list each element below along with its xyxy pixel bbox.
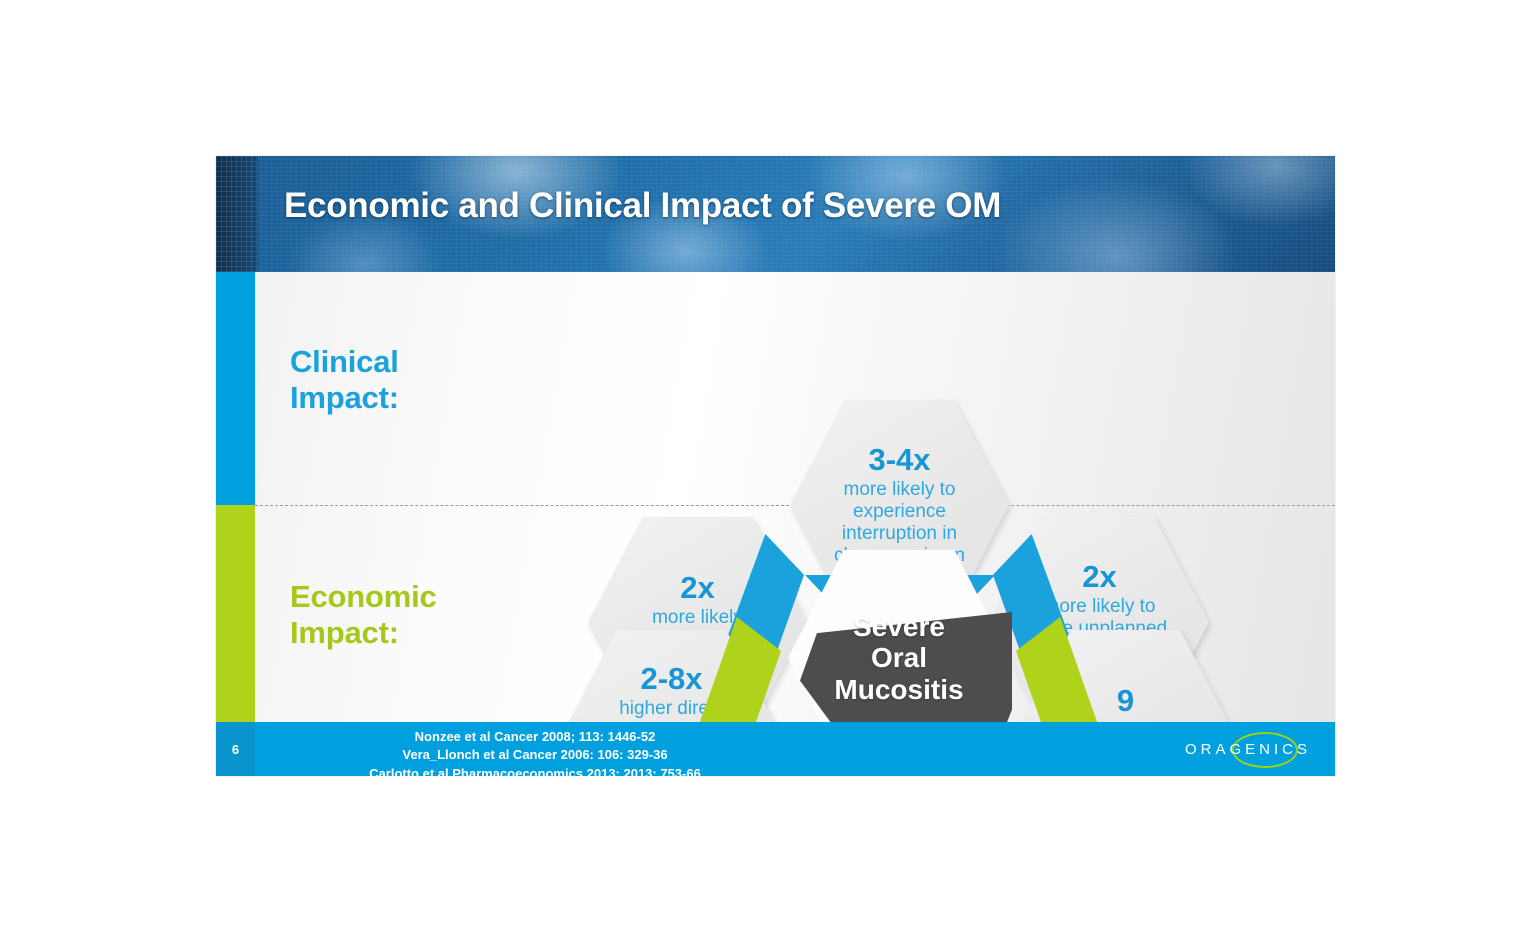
economic-accent-rail	[216, 505, 255, 722]
page-title: Economic and Clinical Impact of Severe O…	[284, 186, 1001, 226]
clinical-accent-rail	[216, 272, 255, 505]
slide-footer: 6 Nonzee et al Cancer 2008; 113: 1446-52…	[216, 722, 1335, 776]
oragenics-logo: ORAGENICS	[1185, 736, 1311, 762]
hexagon-radiation-number: 2x	[1082, 560, 1116, 595]
hexagon-extra-days-number: 9	[1117, 684, 1134, 719]
slide-header: Economic and Clinical Impact of Severe O…	[216, 156, 1335, 272]
hexagon-hospital-costs-number: 2-8x	[640, 662, 702, 697]
slide-body: Clinical Impact: Economic Impact: 3-4x m…	[216, 272, 1335, 722]
page-number: 6	[216, 722, 255, 776]
logo-text: ORAGENICS	[1185, 741, 1311, 758]
hexagon-chemo-number: 3-4x	[868, 443, 930, 478]
hexagon-tpn-number: 2x	[680, 571, 714, 606]
clinical-impact-label: Clinical Impact:	[290, 344, 399, 416]
economic-impact-label: Economic Impact:	[290, 579, 437, 651]
presentation-slide: Economic and Clinical Impact of Severe O…	[216, 156, 1335, 776]
header-left-strip-grid	[216, 156, 258, 272]
citation-list: Nonzee et al Cancer 2008; 113: 1446-52 V…	[255, 728, 815, 783]
